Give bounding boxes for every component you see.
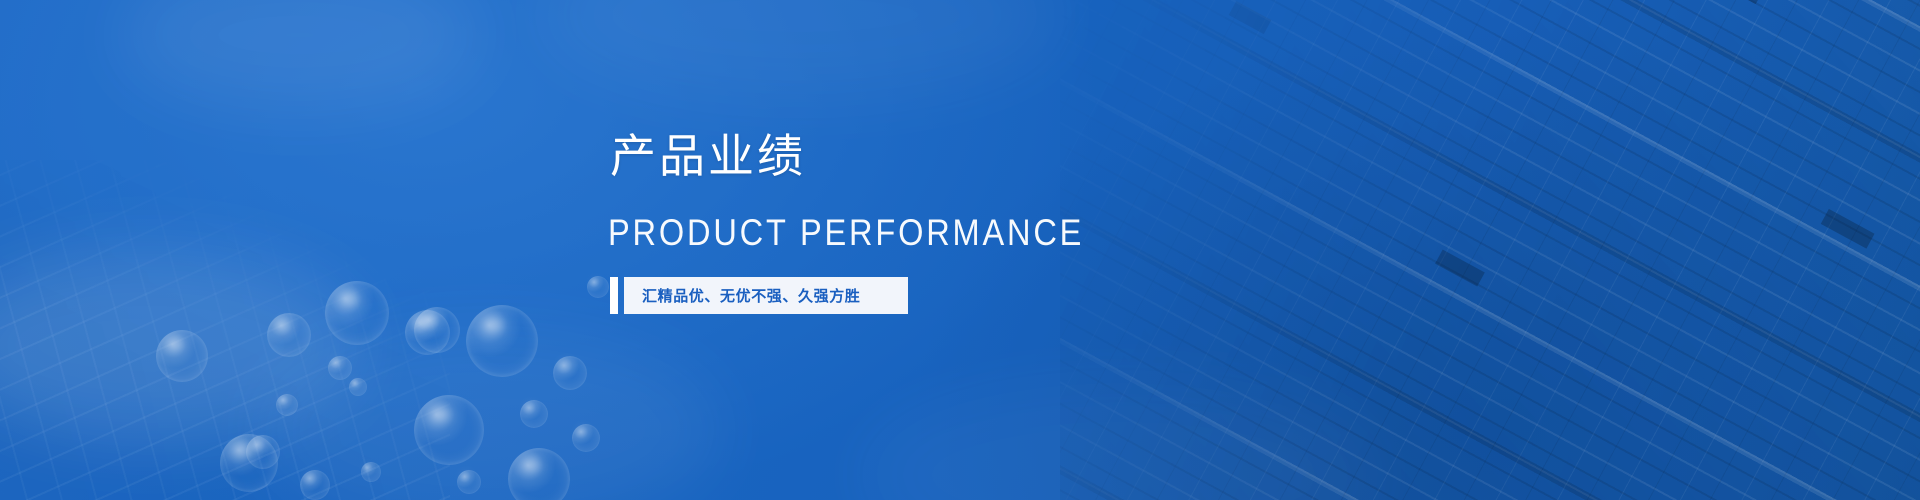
bubble — [553, 356, 587, 390]
slogan-panel: 汇精品优、无优不强、久强方胜 — [624, 277, 908, 314]
facade-shading — [1060, 0, 1920, 500]
product-performance-banner: 产品业绩 PRODUCT PERFORMANCE 汇精品优、无优不强、久强方胜 — [0, 0, 1920, 500]
bubble — [572, 424, 600, 452]
cloud-wisp — [540, 0, 1060, 100]
slogan-text: 汇精品优、无优不强、久强方胜 — [642, 285, 860, 306]
bubble — [520, 400, 548, 428]
cloud-wisp — [120, 0, 480, 110]
skyscraper-facade-photo — [1060, 0, 1920, 500]
slogan-banner: 汇精品优、无优不强、久强方胜 — [610, 277, 908, 314]
bubble — [466, 305, 538, 377]
bubble — [457, 470, 481, 494]
page-title: 产品业绩 — [610, 133, 806, 179]
bubble — [587, 276, 609, 298]
bubble — [508, 448, 570, 500]
white-vertical-accent-bar — [610, 277, 618, 314]
page-subtitle-english: PRODUCT PERFORMANCE — [608, 214, 1084, 251]
facade-rotation-group — [1060, 0, 1920, 500]
foreground-building-corner — [0, 160, 450, 500]
building-window-grid — [0, 160, 450, 500]
